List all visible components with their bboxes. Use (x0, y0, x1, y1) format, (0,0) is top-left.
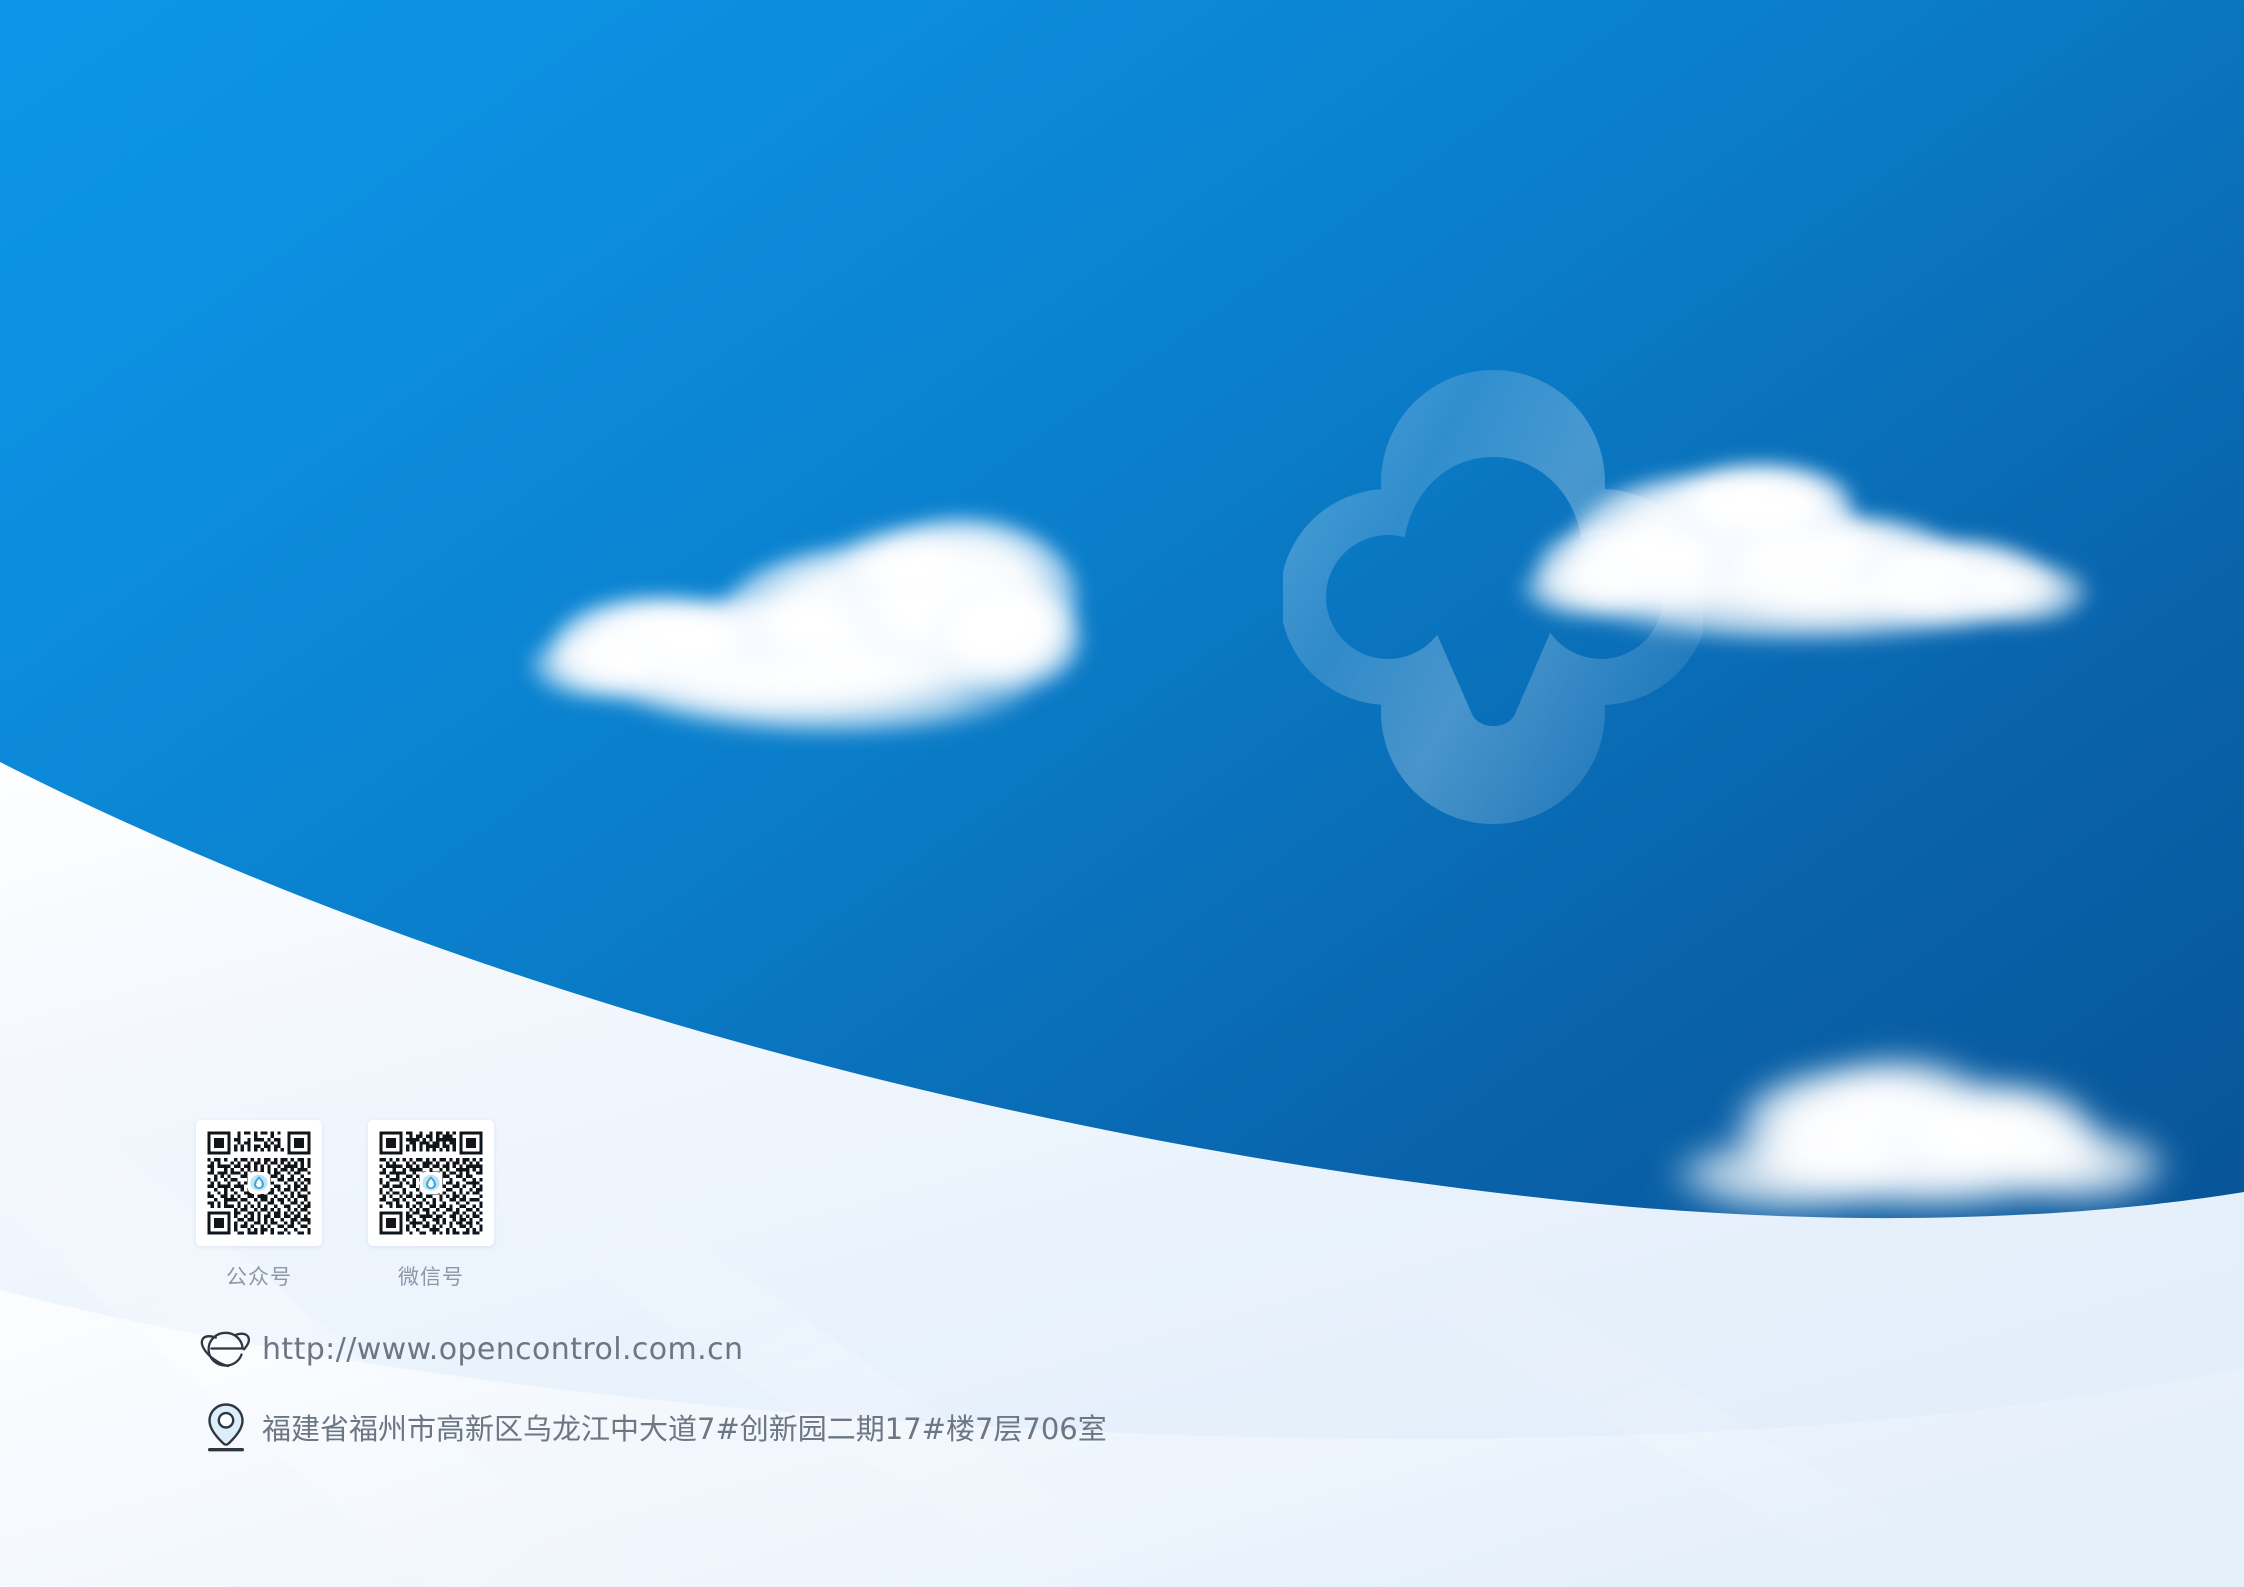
qr-label-gongzhonghao: 公众号 (226, 1261, 292, 1291)
qr-code-gongzhonghao[interactable] (196, 1120, 322, 1246)
qr-label-weixinhao: 微信号 (398, 1261, 464, 1291)
qr-code-weixinhao[interactable] (368, 1120, 494, 1246)
back-cover-page: 公众号 (0, 0, 2244, 1587)
qr-code-row: 公众号 (196, 1120, 494, 1291)
contact-list: http://www.opencontrol.com.cn 福建省福州市高新区乌… (190, 1310, 1107, 1466)
cloud-right-upper (1520, 463, 2090, 643)
contact-row-website[interactable]: http://www.opencontrol.com.cn (190, 1310, 1107, 1388)
cloud-bottom-right (1670, 1056, 2170, 1215)
qr-center-logo (248, 1172, 270, 1194)
website-url-text[interactable]: http://www.opencontrol.com.cn (262, 1332, 743, 1367)
address-text: 福建省福州市高新区乌龙江中大道7#创新园二期17#楼7层706室 (262, 1406, 1107, 1448)
cloud-left (528, 518, 1083, 736)
qr-block-weixinhao[interactable]: 微信号 (368, 1120, 494, 1291)
map-pin-icon (190, 1399, 262, 1455)
internet-explorer-icon (190, 1324, 262, 1374)
contact-row-address: 福建省福州市高新区乌龙江中大道7#创新园二期17#楼7层706室 (190, 1388, 1107, 1466)
qr-center-logo (420, 1172, 442, 1194)
qr-block-gongzhonghao[interactable]: 公众号 (196, 1120, 322, 1291)
